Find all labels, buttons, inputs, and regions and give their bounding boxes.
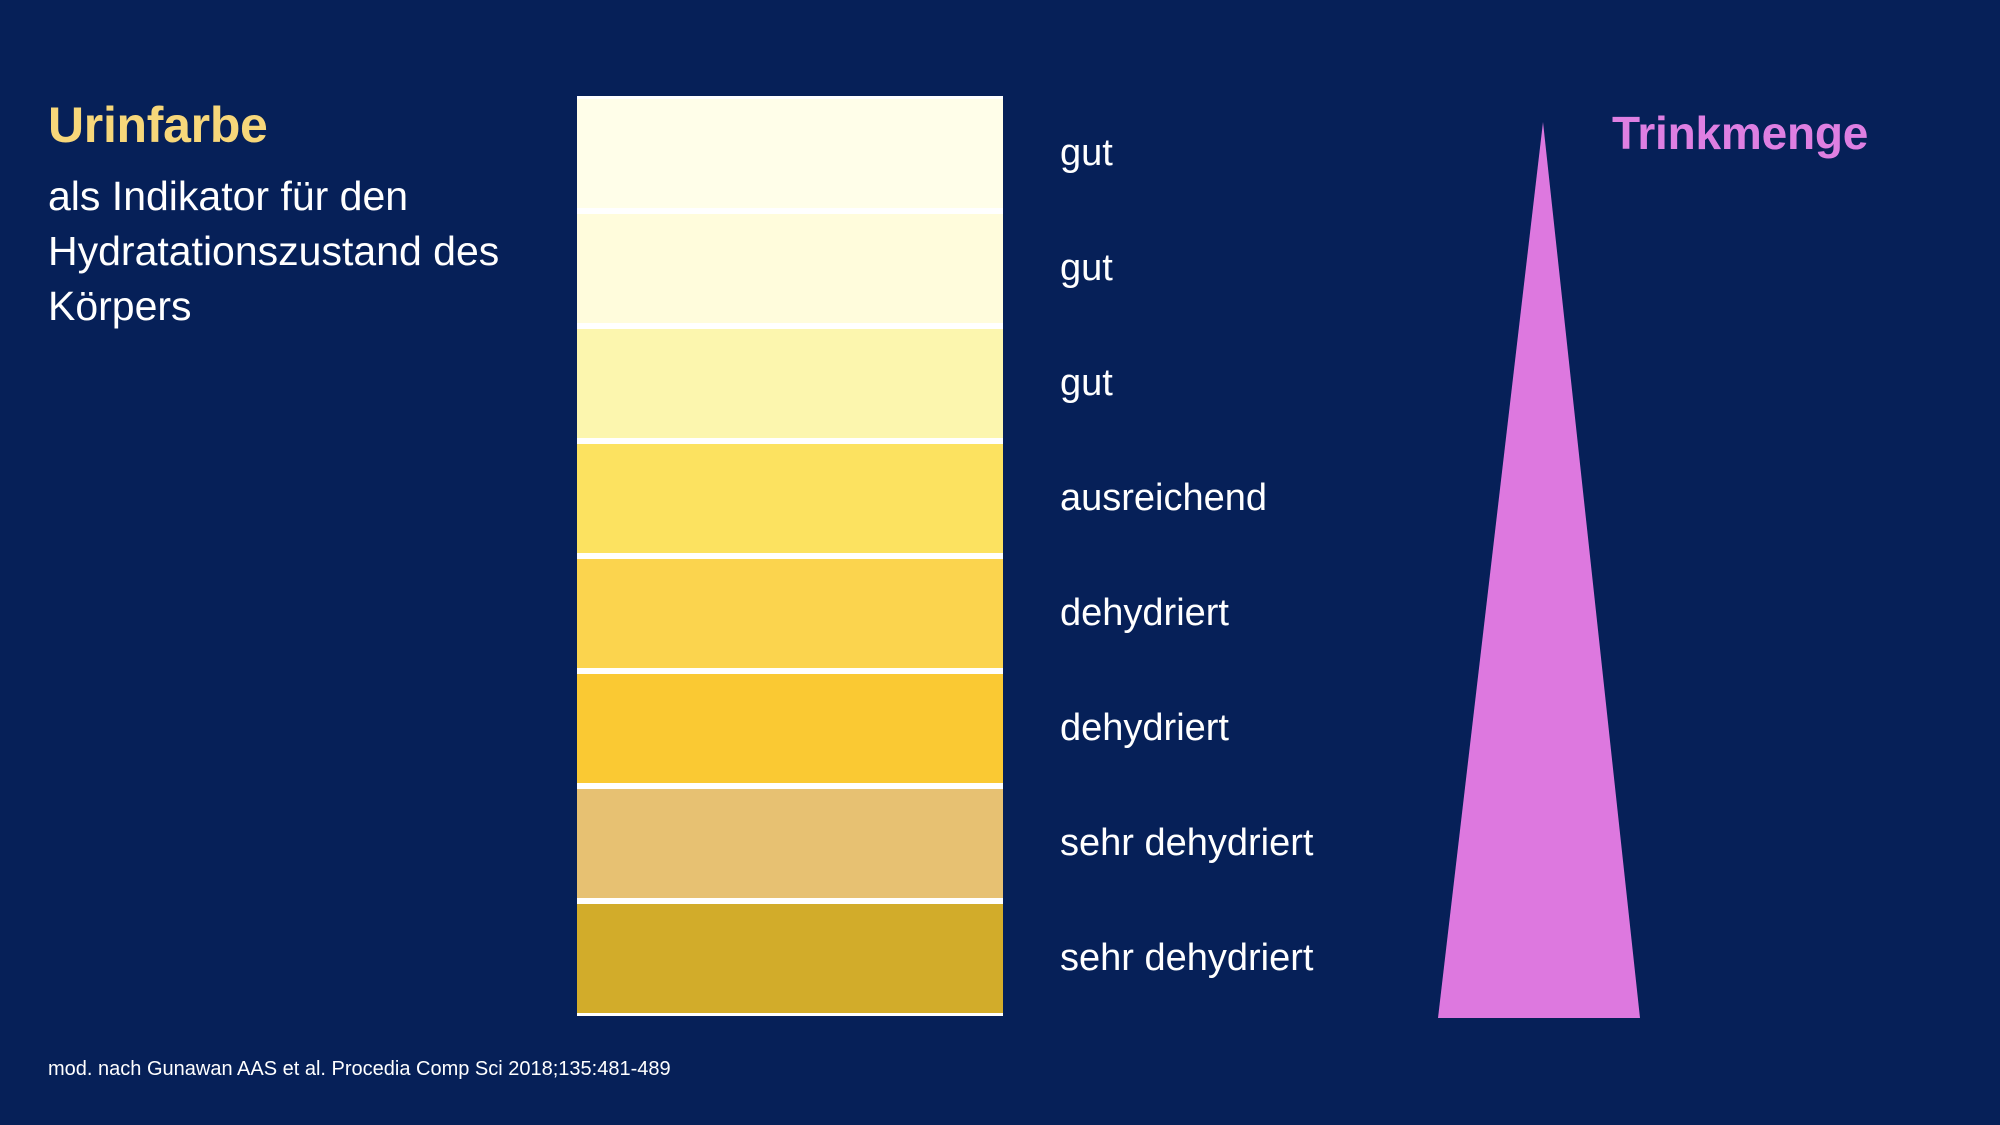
- citation-text: mod. nach Gunawan AAS et al. Procedia Co…: [48, 1058, 671, 1081]
- status-label: gut: [1060, 248, 1113, 290]
- slide-canvas: Urinfarbe als Indikator für den Hydratat…: [0, 0, 2000, 1125]
- color-swatch: [577, 559, 1003, 668]
- status-label: ausreichend: [1060, 478, 1267, 520]
- color-swatch: [577, 214, 1003, 323]
- legend-title: Trinkmenge: [1612, 106, 1868, 160]
- heading-block: Urinfarbe als Indikator für den Hydratat…: [48, 96, 568, 334]
- urine-color-scale: [577, 96, 1003, 1016]
- status-label: gut: [1060, 133, 1113, 175]
- color-swatch: [577, 674, 1003, 783]
- status-label: dehydriert: [1060, 708, 1229, 750]
- status-label: sehr dehydriert: [1060, 823, 1313, 865]
- color-swatch: [577, 789, 1003, 898]
- color-swatch: [577, 444, 1003, 553]
- page-title: Urinfarbe: [48, 96, 568, 155]
- status-label: gut: [1060, 363, 1113, 405]
- status-label: dehydriert: [1060, 593, 1229, 635]
- color-swatch: [577, 904, 1003, 1013]
- triangle-icon: [1420, 110, 1660, 1025]
- page-subtitle: als Indikator für den Hydratationszustan…: [48, 169, 568, 334]
- color-swatch: [577, 99, 1003, 208]
- status-label: sehr dehydriert: [1060, 938, 1313, 980]
- drinking-amount-triangle: [1420, 110, 1660, 1025]
- color-swatch: [577, 329, 1003, 438]
